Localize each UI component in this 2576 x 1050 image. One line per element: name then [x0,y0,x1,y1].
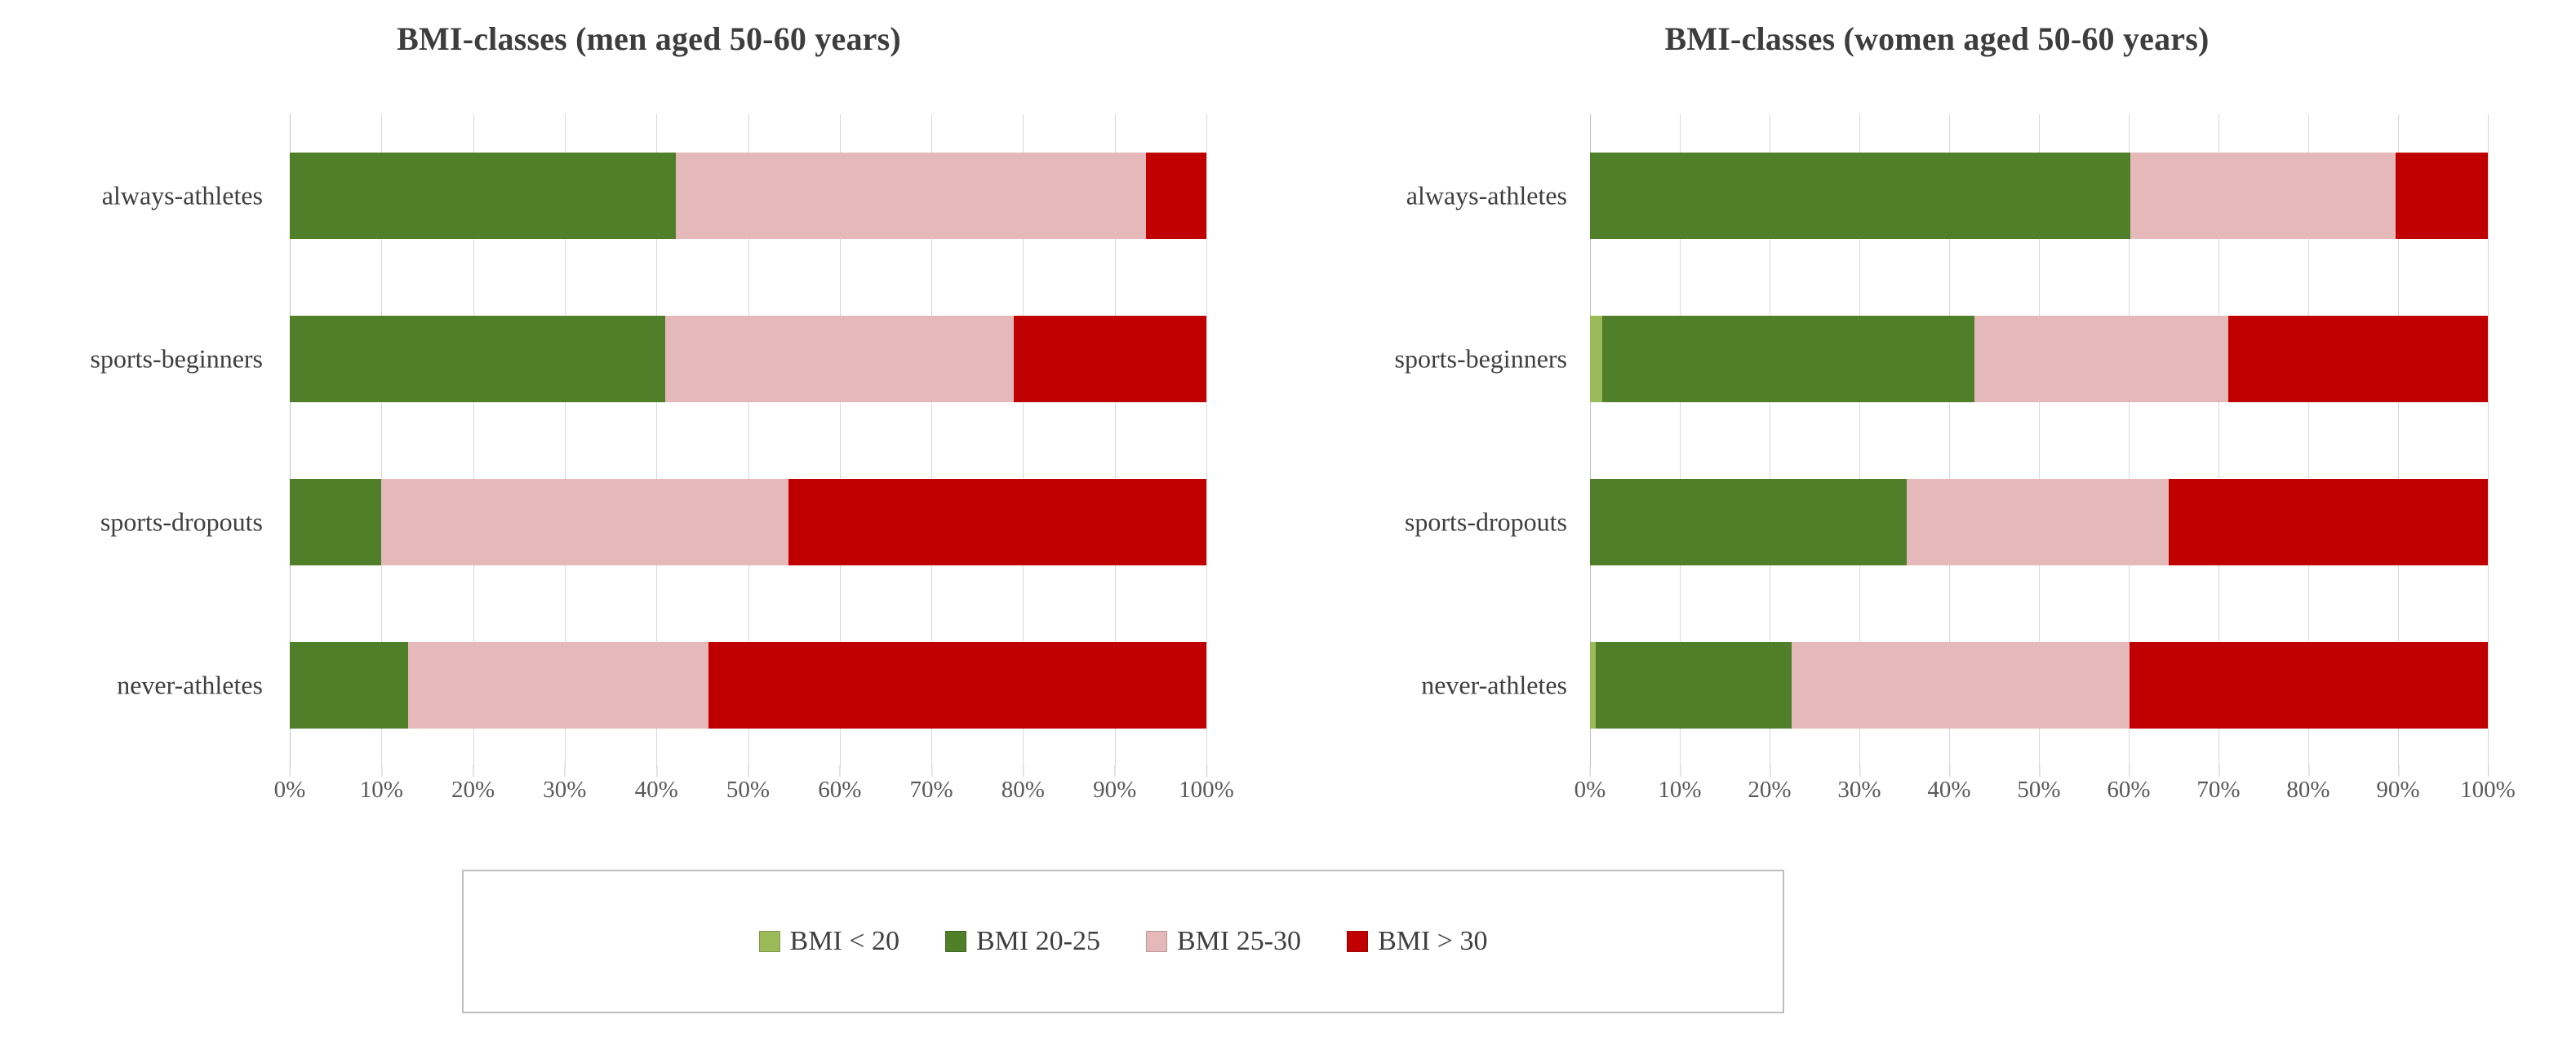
x-axis-tick-10pct: 10% [360,777,403,804]
tick-mark [1949,765,1950,777]
bar-segment-bmi-25-30 [408,642,708,729]
x-axis-tick-20pct: 20% [451,777,495,804]
tick-mark [748,765,748,777]
tick-mark [565,765,566,777]
x-axis-ticks-women: 0%10%20%30%40%50%60%70%80%90%100% [1590,777,2488,826]
tick-mark [2488,765,2489,777]
bar-row [1590,153,2488,239]
tick-mark [1859,765,1860,777]
legend-swatch-icon [1146,931,1167,952]
x-axis-tick-60pct: 60% [2107,777,2150,804]
tick-mark [1680,765,1681,777]
plot-area-women [1590,114,2488,767]
chart-title-men: BMI-classes (men aged 50-60 years) [0,0,1298,58]
x-axis-tick-50pct: 50% [2017,777,2060,804]
x-axis-tick-0pct: 0% [274,777,306,804]
y-axis-label-always-athletes: always-athletes [1406,181,1567,211]
x-axis-tick-30pct: 30% [543,777,586,804]
plot-area-men [290,114,1206,767]
tick-mark [473,765,474,777]
bar-row [290,153,1206,239]
tick-mark [2039,765,2040,777]
x-axis-tick-80pct: 80% [1002,777,1045,804]
tick-mark [1590,765,1591,777]
legend-swatch-icon [1347,931,1368,952]
bar-segment-bmi-20-25 [290,479,381,565]
bar-segment-bmi-30 [708,642,1206,729]
tick-mark [2129,765,2130,777]
y-axis-label-never-athletes: never-athletes [1421,671,1567,701]
bar-segment-bmi-30 [2130,642,2488,729]
bar-row [290,316,1206,402]
bar-segment-bmi-25-30 [1974,316,2228,402]
x-axis-tick-80pct: 80% [2286,777,2330,804]
bar-segment-bmi-20-25 [1590,479,1907,565]
x-axis-ticks-men: 0%10%20%30%40%50%60%70%80%90%100% [290,777,1206,826]
legend-swatch-icon [945,931,966,952]
chart-title-women: BMI-classes (women aged 50-60 years) [1298,0,2576,58]
x-axis-tick-0pct: 0% [1574,777,1606,804]
legend-label: BMI < 20 [790,926,899,957]
tick-mark [381,765,382,777]
bar-segment-bmi-25-30 [665,316,1014,402]
bar-segment-bmi-30 [1014,316,1206,402]
x-axis-tick-20pct: 20% [1748,777,1791,804]
bar-segment-bmi-25-30 [2130,153,2396,239]
legend-label: BMI > 30 [1378,926,1487,957]
bar-segment-bmi-20-25 [1602,316,1974,402]
legend-item-bmi-20[interactable]: BMI < 20 [759,926,899,957]
y-axis-label-sports-beginners: sports-beginners [90,344,263,374]
bar-segment-bmi-25-30 [676,153,1146,239]
tick-mark [1023,765,1024,777]
tick-mark [290,765,291,777]
legend-items: BMI < 20BMI 20-25BMI 25-30BMI > 30 [759,926,1488,957]
x-axis-tick-40pct: 40% [1927,777,1970,804]
tick-mark [1770,765,1770,777]
legend-item-bmi-25-30[interactable]: BMI 25-30 [1146,926,1301,957]
tick-mark [1115,765,1116,777]
x-axis-tick-60pct: 60% [818,777,861,804]
tick-mark [656,765,657,777]
bar-segment-bmi-20-25 [290,316,665,402]
tick-mark [2218,765,2219,777]
bar-segment-bmi-30 [2169,479,2488,565]
bar-segment-bmi-20-25 [290,153,676,239]
bar-row [1590,479,2488,565]
legend-label: BMI 25-30 [1177,926,1301,957]
x-axis-tick-100pct: 100% [2460,777,2516,804]
y-axis-label-sports-beginners: sports-beginners [1394,344,1567,374]
figure-root: BMI-classes (men aged 50-60 years) alway… [0,0,2576,1050]
x-axis-tick-50pct: 50% [726,777,770,804]
bar-segment-bmi-25-30 [1907,479,2169,565]
bar-row [1590,316,2488,402]
bar-segment-bmi-20 [1590,642,1596,729]
legend: BMI < 20BMI 20-25BMI 25-30BMI > 30 [462,870,1784,1013]
legend-item-bmi-20-25[interactable]: BMI 20-25 [945,926,1100,957]
legend-item-bmi-30[interactable]: BMI > 30 [1347,926,1487,957]
y-axis-label-always-athletes: always-athletes [102,181,263,211]
x-axis-tick-90pct: 90% [1093,777,1136,804]
bar-segment-bmi-25-30 [381,479,788,565]
legend-swatch-icon [759,931,780,952]
x-axis-tick-30pct: 30% [1837,777,1881,804]
x-axis-tick-10pct: 10% [1658,777,1701,804]
bar-segment-bmi-30 [2396,153,2488,239]
bar-group-men [290,114,1206,767]
x-axis-tick-70pct: 70% [2196,777,2240,804]
tick-mark [1206,765,1207,777]
legend-label: BMI 20-25 [976,926,1100,957]
tick-mark [2308,765,2309,777]
bar-segment-bmi-20-25 [1596,642,1792,729]
tick-mark [931,765,932,777]
bar-segment-bmi-30 [788,479,1206,565]
bar-segment-bmi-30 [2228,316,2488,402]
bar-group-women [1590,114,2488,767]
bar-segment-bmi-30 [1146,153,1206,239]
y-axis-label-sports-dropouts: sports-dropouts [1405,507,1567,538]
x-axis-tick-90pct: 90% [2376,777,2419,804]
bar-segment-bmi-20-25 [1590,153,2130,239]
bar-row [290,642,1206,729]
tick-mark [2398,765,2399,777]
y-axis-labels-women: always-athletessports-beginnerssports-dr… [1298,114,1582,767]
y-axis-label-never-athletes: never-athletes [117,671,263,701]
x-axis-tick-70pct: 70% [910,777,953,804]
bar-segment-bmi-20 [1590,316,1602,402]
bar-segment-bmi-20-25 [290,642,408,729]
tick-mark [840,765,841,777]
bar-row [290,479,1206,565]
y-axis-labels-men: always-athletessports-beginnerssports-dr… [0,114,278,767]
x-axis-tick-100pct: 100% [1179,777,1234,804]
bar-segment-bmi-25-30 [1792,642,2130,729]
x-axis-tick-40pct: 40% [635,777,678,804]
y-axis-label-sports-dropouts: sports-dropouts [100,507,263,538]
bar-row [1590,642,2488,729]
